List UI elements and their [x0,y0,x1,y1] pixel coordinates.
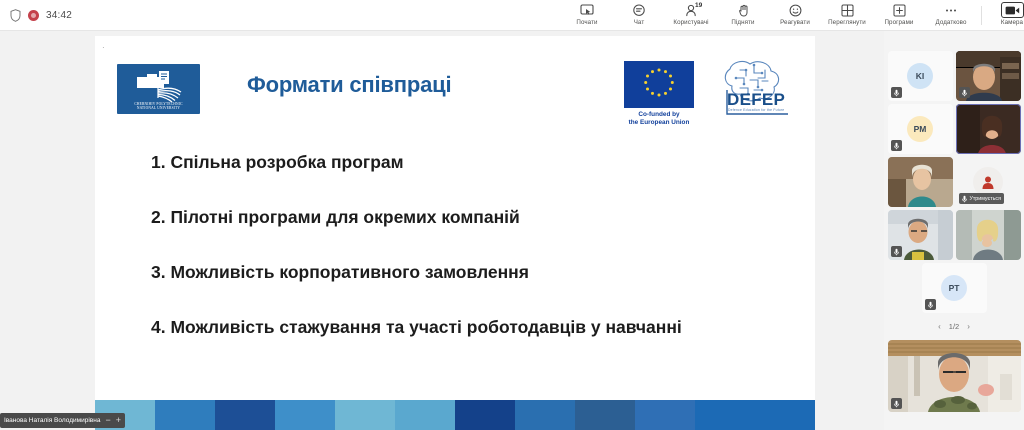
mic-muted-badge-icon [925,299,936,310]
slide-bullet-4: 4. Можливість стажування та участі робот… [151,316,761,338]
participant-tile-on-hold[interactable]: Утримується [956,157,1021,207]
more-options-button[interactable]: Додатково [925,0,977,31]
shared-content-stage: · [0,31,884,430]
slide-bullet-1: 1. Спільна розробка програм [151,151,761,173]
avatar: PM [907,116,933,142]
slide-corner-marker: · [102,43,105,52]
zoom-in-button[interactable]: + [116,416,121,425]
avatar: PT [941,275,967,301]
slide-bullet-list: 1. Спільна розробка програм 2. Пілотні п… [151,151,761,338]
presenter-name: Іванова Наталія Володимирівна [4,417,100,424]
hold-status-text: Утримується [970,196,1001,202]
camera-label: Камера [1001,19,1023,26]
participants-count-badge: 19 [695,2,702,9]
participant-video [888,340,1021,412]
chernihiv-polytechnic-logo: CHERNIHIV POLYTECHNIC NATIONAL UNIVERSIT… [117,64,200,114]
defep-tagline: Defence Education for the Future [728,108,784,112]
slide-bullet-3: 3. Можливість корпоративного замовлення [151,261,761,283]
apps-button[interactable]: Програми [873,0,925,31]
participant-video [956,210,1021,260]
slide-footer-banner [95,400,815,430]
toolbar-center-group: Почати Чат 19 Користувачі [561,0,1024,31]
participant-tile-active-speaker[interactable] [956,104,1021,154]
mic-muted-badge-icon [961,195,968,203]
presentation-slide[interactable]: · [95,36,815,430]
more-options-label: Додатково [935,19,966,26]
person-silhouette-icon [980,174,996,190]
view-button[interactable]: Переглянути [821,0,873,31]
react-label: Реагувати [780,19,810,26]
defep-wordmark: DEFEP [727,90,785,110]
mic-muted-badge-icon [891,398,902,409]
eu-logo: Co-funded by the European Union [610,61,708,127]
plus-square-icon [893,2,906,18]
share-screen-button[interactable]: Почати [561,0,613,31]
zoom-out-button[interactable]: − [105,416,110,425]
meeting-timer: 34:42 [46,10,72,21]
ellipsis-icon [944,2,958,18]
meeting-window: 34:42 Почати Чат [0,0,1024,430]
mic-muted-badge-icon [959,87,970,98]
participant-tile[interactable] [956,51,1021,101]
participant-pager: ‹ 1/2 › [886,322,1022,331]
participant-grid: KI [886,51,1022,313]
participant-tile[interactable] [888,157,953,207]
mic-muted-badge-icon [891,87,902,98]
recording-indicator[interactable] [28,10,39,21]
mic-muted-badge-icon [891,246,902,257]
chat-label: Чат [634,19,645,26]
pager-next-button[interactable]: › [967,322,970,331]
pager-page-indicator: 1/2 [949,322,959,331]
apps-label: Програми [885,19,914,26]
chat-button[interactable]: Чат [613,0,665,31]
camera-button[interactable]: Камера [986,0,1024,31]
chat-bubble-icon [632,2,646,18]
screen-share-icon [580,2,594,18]
university-logo-text: CHERNIHIV POLYTECHNIC NATIONAL UNIVERSIT… [117,102,200,111]
smiley-icon [789,2,802,18]
meeting-toolbar: 34:42 Почати Чат [0,0,1024,31]
toolbar-divider-1 [981,6,982,25]
participant-tile[interactable]: KI [888,51,953,101]
shield-icon [10,9,21,22]
mic-muted-badge-icon [891,140,902,151]
slide-bullet-2: 2. Пілотні програми для окремих компаній [151,206,761,228]
participant-tile[interactable] [888,210,953,260]
raise-hand-button[interactable]: Підняти [717,0,769,31]
participant-video [956,104,1021,154]
view-label: Переглянути [828,19,866,26]
participant-video [888,157,953,207]
camera-icon [1001,2,1024,18]
pager-prev-button[interactable]: ‹ [938,322,941,331]
raise-hand-label: Підняти [731,19,754,26]
participants-button[interactable]: 19 Користувачі [665,0,717,31]
spotlight-participant-tile[interactable] [888,340,1021,412]
eu-flag-icon [624,61,694,108]
toolbar-left-group: 34:42 [0,9,72,22]
share-screen-label: Почати [576,19,597,26]
avatar: KI [907,63,933,89]
presenter-name-chip: Іванова Наталія Володимирівна − + [0,413,125,428]
raise-hand-icon [737,2,750,18]
participants-panel: KI [884,31,1024,430]
eu-logo-caption: Co-funded by the European Union [610,111,708,127]
participant-tile[interactable]: PT [922,263,987,313]
participant-tile[interactable] [956,210,1021,260]
participants-label: Користувачі [673,19,708,26]
react-button[interactable]: Реагувати [769,0,821,31]
defep-brain-circuit-logo: DEFEP Defence Education for the Future [710,56,798,118]
slide-title: Формати співпраці [247,72,451,98]
grid-view-icon [841,2,854,18]
participant-tile[interactable]: PM [888,104,953,154]
hold-status-badge: Утримується [959,193,1004,204]
